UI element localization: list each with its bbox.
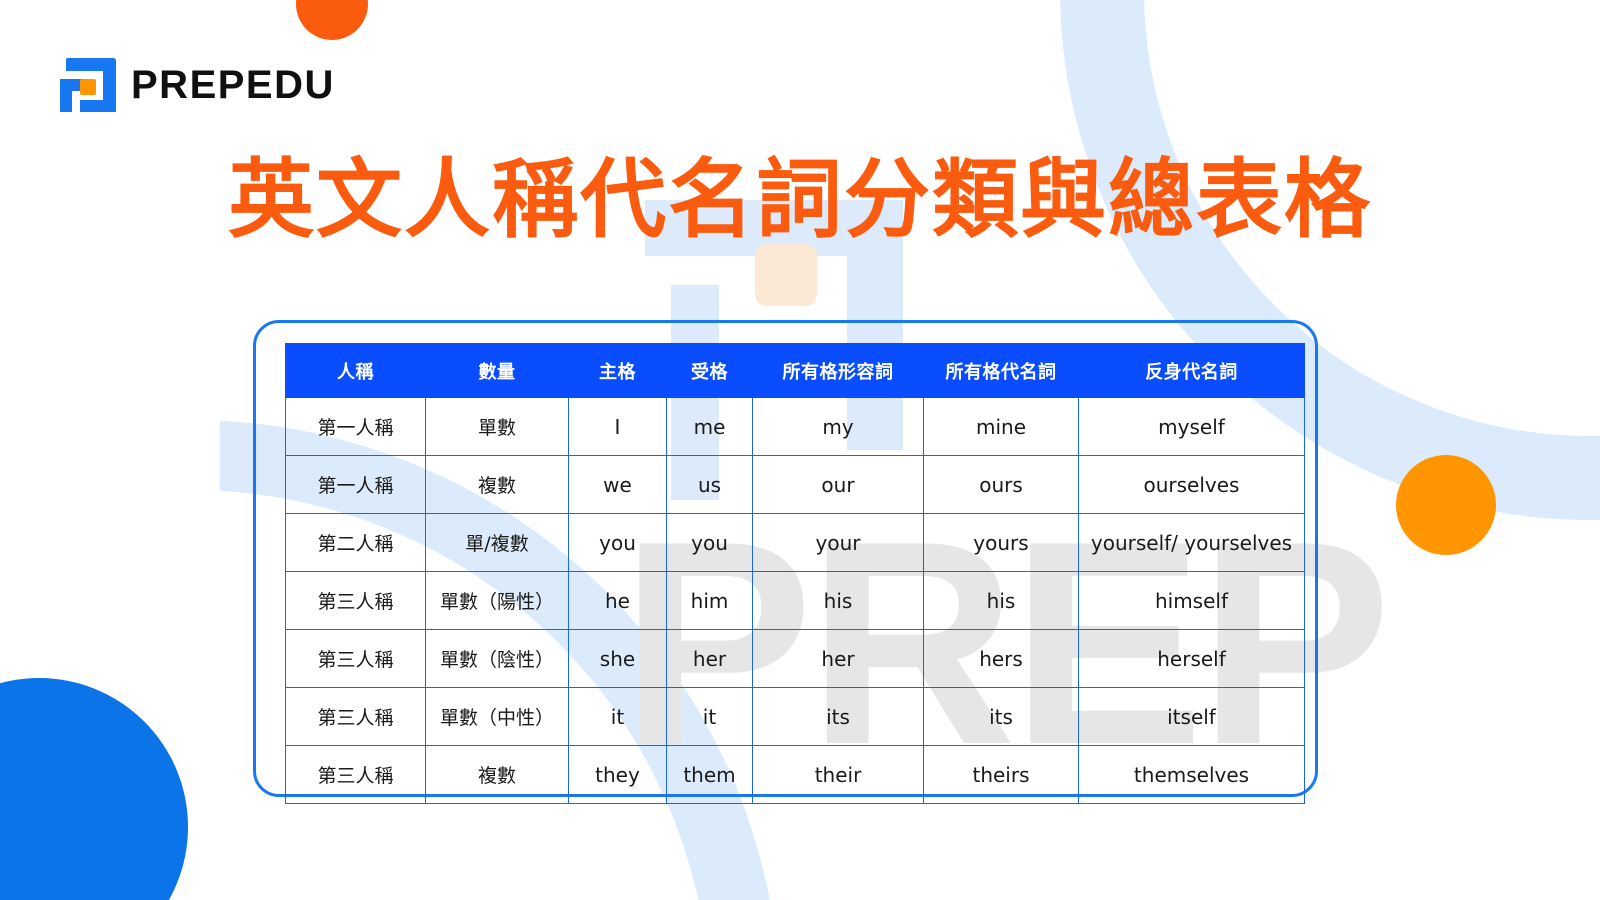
infographic-page: PREP PREPEDU 英文人稱代名詞分類與總表格 人稱 數量 主格 受格 所… (0, 0, 1600, 900)
table-row: 第一人稱 單數 I me my mine myself (286, 398, 1305, 456)
orange-circle-top-icon (296, 0, 368, 40)
cell-reflexive: myself (1079, 398, 1305, 456)
cell-person: 第三人稱 (286, 572, 426, 630)
cell-possessive-pronoun: its (924, 688, 1079, 746)
cell-objective: me (667, 398, 753, 456)
page-title: 英文人稱代名詞分類與總表格 (0, 153, 1600, 248)
cell-number: 單/複數 (426, 514, 569, 572)
col-header-poss-pronoun: 所有格代名詞 (924, 344, 1079, 398)
cell-subjective: they (569, 746, 667, 804)
blue-circle-bottom-left-icon (0, 678, 188, 900)
table-row: 第二人稱 單/複數 you you your yours yourself/ y… (286, 514, 1305, 572)
cell-possessive-adjective: her (753, 630, 924, 688)
pronoun-table: 人稱 數量 主格 受格 所有格形容詞 所有格代名詞 反身代名詞 第一人稱 單數 … (285, 343, 1305, 804)
cell-possessive-pronoun: his (924, 572, 1079, 630)
cell-possessive-adjective: your (753, 514, 924, 572)
cell-reflexive: itself (1079, 688, 1305, 746)
cell-number: 單數（中性） (426, 688, 569, 746)
table-body: 第一人稱 單數 I me my mine myself 第一人稱 複數 we u… (286, 398, 1305, 804)
cell-subjective: he (569, 572, 667, 630)
table-header: 人稱 數量 主格 受格 所有格形容詞 所有格代名詞 反身代名詞 (286, 344, 1305, 398)
cell-person: 第三人稱 (286, 688, 426, 746)
cell-subjective: I (569, 398, 667, 456)
table-row: 第三人稱 單數（陰性） she her her hers herself (286, 630, 1305, 688)
col-header-objective: 受格 (667, 344, 753, 398)
cell-reflexive: herself (1079, 630, 1305, 688)
col-header-subjective: 主格 (569, 344, 667, 398)
cell-number: 複數 (426, 456, 569, 514)
cell-possessive-adjective: its (753, 688, 924, 746)
cell-reflexive: himself (1079, 572, 1305, 630)
cell-subjective: it (569, 688, 667, 746)
cell-objective: her (667, 630, 753, 688)
cell-objective: him (667, 572, 753, 630)
cell-subjective: she (569, 630, 667, 688)
cell-possessive-adjective: his (753, 572, 924, 630)
cell-person: 第三人稱 (286, 630, 426, 688)
col-header-number: 數量 (426, 344, 569, 398)
cell-possessive-pronoun: yours (924, 514, 1079, 572)
arc-mask-left (0, 360, 220, 690)
cell-possessive-pronoun: theirs (924, 746, 1079, 804)
prepedu-logo-mark-icon (60, 58, 116, 112)
table-row: 第一人稱 複數 we us our ours ourselves (286, 456, 1305, 514)
table-row: 第三人稱 複數 they them their theirs themselve… (286, 746, 1305, 804)
cell-person: 第一人稱 (286, 456, 426, 514)
col-header-reflexive: 反身代名詞 (1079, 344, 1305, 398)
cell-reflexive: themselves (1079, 746, 1305, 804)
cell-objective: us (667, 456, 753, 514)
cell-number: 單數（陽性） (426, 572, 569, 630)
brand-name: PREPEDU (131, 63, 335, 108)
cell-objective: it (667, 688, 753, 746)
cell-objective: them (667, 746, 753, 804)
cell-number: 複數 (426, 746, 569, 804)
cell-possessive-adjective: their (753, 746, 924, 804)
col-header-person: 人稱 (286, 344, 426, 398)
cell-reflexive: yourself/ yourselves (1079, 514, 1305, 572)
cell-possessive-pronoun: mine (924, 398, 1079, 456)
col-header-poss-adj: 所有格形容詞 (753, 344, 924, 398)
table-row: 第三人稱 單數（陽性） he him his his himself (286, 572, 1305, 630)
cell-possessive-pronoun: ours (924, 456, 1079, 514)
orange-circle-right-icon (1396, 455, 1496, 555)
cell-reflexive: ourselves (1079, 456, 1305, 514)
cell-subjective: you (569, 514, 667, 572)
cell-subjective: we (569, 456, 667, 514)
table-row: 第三人稱 單數（中性） it it its its itself (286, 688, 1305, 746)
cell-possessive-pronoun: hers (924, 630, 1079, 688)
cell-person: 第一人稱 (286, 398, 426, 456)
table-header-row: 人稱 數量 主格 受格 所有格形容詞 所有格代名詞 反身代名詞 (286, 344, 1305, 398)
cell-objective: you (667, 514, 753, 572)
cell-possessive-adjective: my (753, 398, 924, 456)
cell-person: 第二人稱 (286, 514, 426, 572)
brand-logo[interactable]: PREPEDU (60, 58, 335, 112)
cell-possessive-adjective: our (753, 456, 924, 514)
cell-number: 單數（陰性） (426, 630, 569, 688)
cell-number: 單數 (426, 398, 569, 456)
cell-person: 第三人稱 (286, 746, 426, 804)
